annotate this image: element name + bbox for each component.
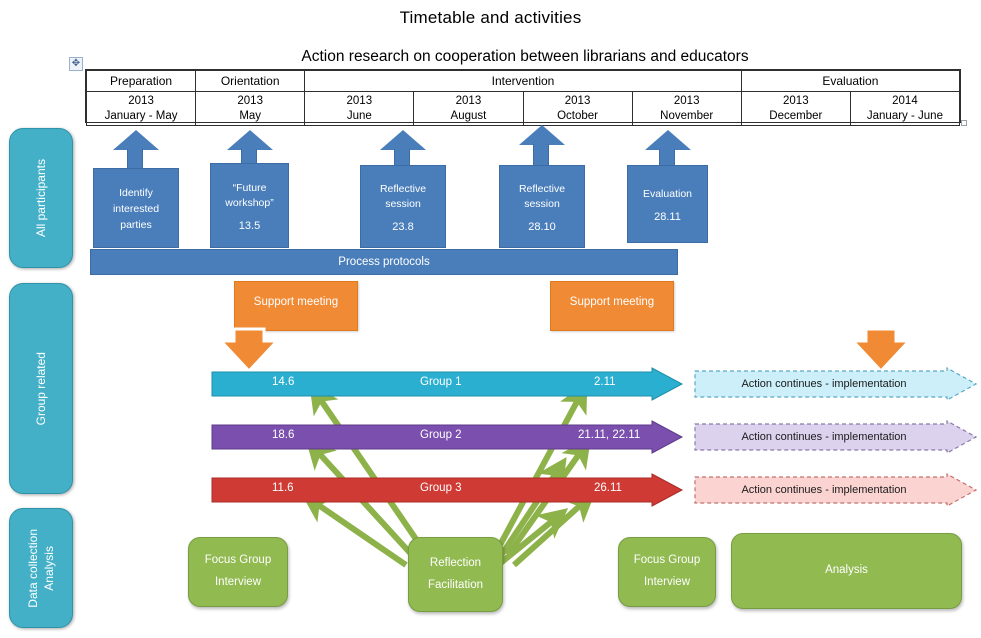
- arrow-head-icon-4: [645, 130, 691, 150]
- category-label-all-participants: All participants: [33, 159, 49, 237]
- period-cell-3: 2013August: [414, 92, 523, 126]
- group-3-name: Group 3: [420, 482, 462, 494]
- group-2-row: 18.6 Group 2 21.11, 22.11: [212, 421, 682, 453]
- resize-handle[interactable]: [961, 120, 967, 126]
- group-2-start-date: 18.6: [272, 429, 294, 441]
- timetable: Preparation Orientation Intervention Eva…: [85, 69, 961, 123]
- chart-title: Action research on cooperation between l…: [85, 48, 965, 66]
- period-cell-1: 2013May: [196, 92, 305, 126]
- event-line1-1: “Future: [233, 181, 267, 197]
- action-continues-label-2: Action continues - implementation: [694, 423, 954, 451]
- phase-cell-evaluation: Evaluation: [741, 71, 959, 92]
- period-month-2: June: [347, 110, 372, 122]
- event-box-evaluation[interactable]: Evaluation 28.11: [627, 165, 708, 243]
- timetable-phase-row: Preparation Orientation Intervention Eva…: [87, 71, 960, 92]
- event-box-reflective-session-238[interactable]: Reflective session 23.8: [360, 165, 446, 248]
- process-protocols-bar[interactable]: Process protocols: [90, 249, 678, 275]
- support-meeting-box-1[interactable]: Support meeting: [234, 281, 358, 331]
- move-icon[interactable]: ✥: [69, 57, 83, 71]
- support-meeting-label-1: Support meeting: [254, 296, 338, 308]
- phase-cell-preparation: Preparation: [87, 71, 196, 92]
- group-2-end-date: 21.11, 22.11: [578, 429, 640, 441]
- data-box-focus-group-interview-1[interactable]: Focus Group Interview: [188, 537, 288, 607]
- data-box-reflection-facilitation[interactable]: Reflection Facilitation: [408, 537, 503, 612]
- event-date-4: 28.11: [654, 209, 681, 226]
- group-1-start-date: 14.6: [272, 376, 294, 388]
- arrow-head-icon-1: [227, 130, 273, 150]
- event-date-2: 23.8: [392, 219, 413, 236]
- diagram-canvas: Timetable and activities Action research…: [0, 0, 981, 638]
- group-3-row: 11.6 Group 3 26.11: [212, 474, 682, 506]
- event-box-future-workshop[interactable]: “Future workshop” 13.5: [210, 163, 289, 248]
- data-box-line1-0: Focus Group: [205, 550, 271, 572]
- data-box-line1-2: Focus Group: [634, 550, 700, 572]
- group-2-name: Group 2: [420, 429, 462, 441]
- arrow-head-icon-3: [519, 125, 565, 145]
- period-month-0: January - May: [105, 110, 178, 122]
- data-box-line2-1: Facilitation: [428, 575, 483, 597]
- support-meeting-label-2: Support meeting: [570, 296, 654, 308]
- action-continues-label-3: Action continues - implementation: [694, 476, 954, 504]
- period-cell-0: 2013January - May: [87, 92, 196, 126]
- event-line3-0: parties: [120, 218, 152, 234]
- event-line1-4: Evaluation: [643, 187, 692, 203]
- period-year-6: 2013: [783, 95, 809, 107]
- period-year-1: 2013: [237, 95, 263, 107]
- event-line1-3: Reflective: [519, 182, 565, 198]
- period-year-3: 2013: [456, 95, 482, 107]
- period-year-5: 2013: [674, 95, 700, 107]
- event-line2-1: workshop”: [225, 196, 273, 212]
- phase-cell-orientation: Orientation: [196, 71, 305, 92]
- process-protocols-label: Process protocols: [338, 256, 429, 268]
- group-1-row: 14.6 Group 1 2.11: [212, 368, 682, 400]
- event-line2-0: interested: [113, 202, 159, 218]
- data-box-line2-0: Interview: [215, 572, 261, 594]
- event-box-identify-interested-parties[interactable]: Identify interested parties: [93, 168, 179, 248]
- period-month-1: May: [239, 110, 261, 122]
- period-month-4: October: [557, 110, 598, 122]
- page-title: Timetable and activities: [0, 8, 981, 28]
- event-line1-0: Identify: [119, 186, 153, 202]
- arrow-head-icon-0: [113, 130, 159, 150]
- group-1-end-date: 2.11: [594, 376, 616, 388]
- group-3-start-date: 11.6: [272, 482, 294, 494]
- event-line1-2: Reflective: [380, 182, 426, 198]
- event-date-1: 13.5: [239, 218, 260, 235]
- period-cell-6: 2013December: [741, 92, 850, 126]
- period-year-7: 2014: [892, 95, 918, 107]
- event-date-3: 28.10: [528, 219, 556, 236]
- category-all-participants[interactable]: All participants: [9, 128, 73, 268]
- period-cell-7: 2014January - June: [850, 92, 959, 126]
- period-year-2: 2013: [347, 95, 373, 107]
- group-1-name: Group 1: [420, 376, 462, 388]
- period-cell-2: 2013June: [305, 92, 414, 126]
- data-box-line1-1: Reflection: [430, 553, 481, 575]
- event-box-reflective-session-2810[interactable]: Reflective session 28.10: [499, 165, 585, 248]
- action-continues-label-1: Action continues - implementation: [694, 370, 954, 398]
- period-cell-5: 2013November: [632, 92, 741, 126]
- arrow-head-icon-2: [380, 130, 426, 150]
- period-cell-4: 2013October: [523, 92, 632, 126]
- arrow-stem-3: [533, 144, 549, 165]
- period-month-7: January - June: [867, 110, 943, 122]
- phase-cell-intervention: Intervention: [305, 71, 742, 92]
- data-box-line1-3: Analysis: [825, 560, 868, 582]
- period-year-0: 2013: [128, 95, 154, 107]
- event-line2-3: session: [524, 197, 560, 213]
- period-month-3: August: [451, 110, 487, 122]
- period-month-5: November: [660, 110, 713, 122]
- period-year-4: 2013: [565, 95, 591, 107]
- support-meeting-box-2[interactable]: Support meeting: [550, 281, 674, 331]
- group-3-end-date: 26.11: [594, 482, 622, 494]
- data-box-focus-group-interview-2[interactable]: Focus Group Interview: [618, 537, 716, 607]
- event-line2-2: session: [385, 197, 421, 213]
- timetable-period-row: 2013January - May 2013May 2013June 2013A…: [87, 92, 960, 126]
- data-box-line2-2: Interview: [644, 572, 690, 594]
- period-month-6: December: [769, 110, 822, 122]
- data-box-analysis[interactable]: Analysis: [731, 533, 962, 609]
